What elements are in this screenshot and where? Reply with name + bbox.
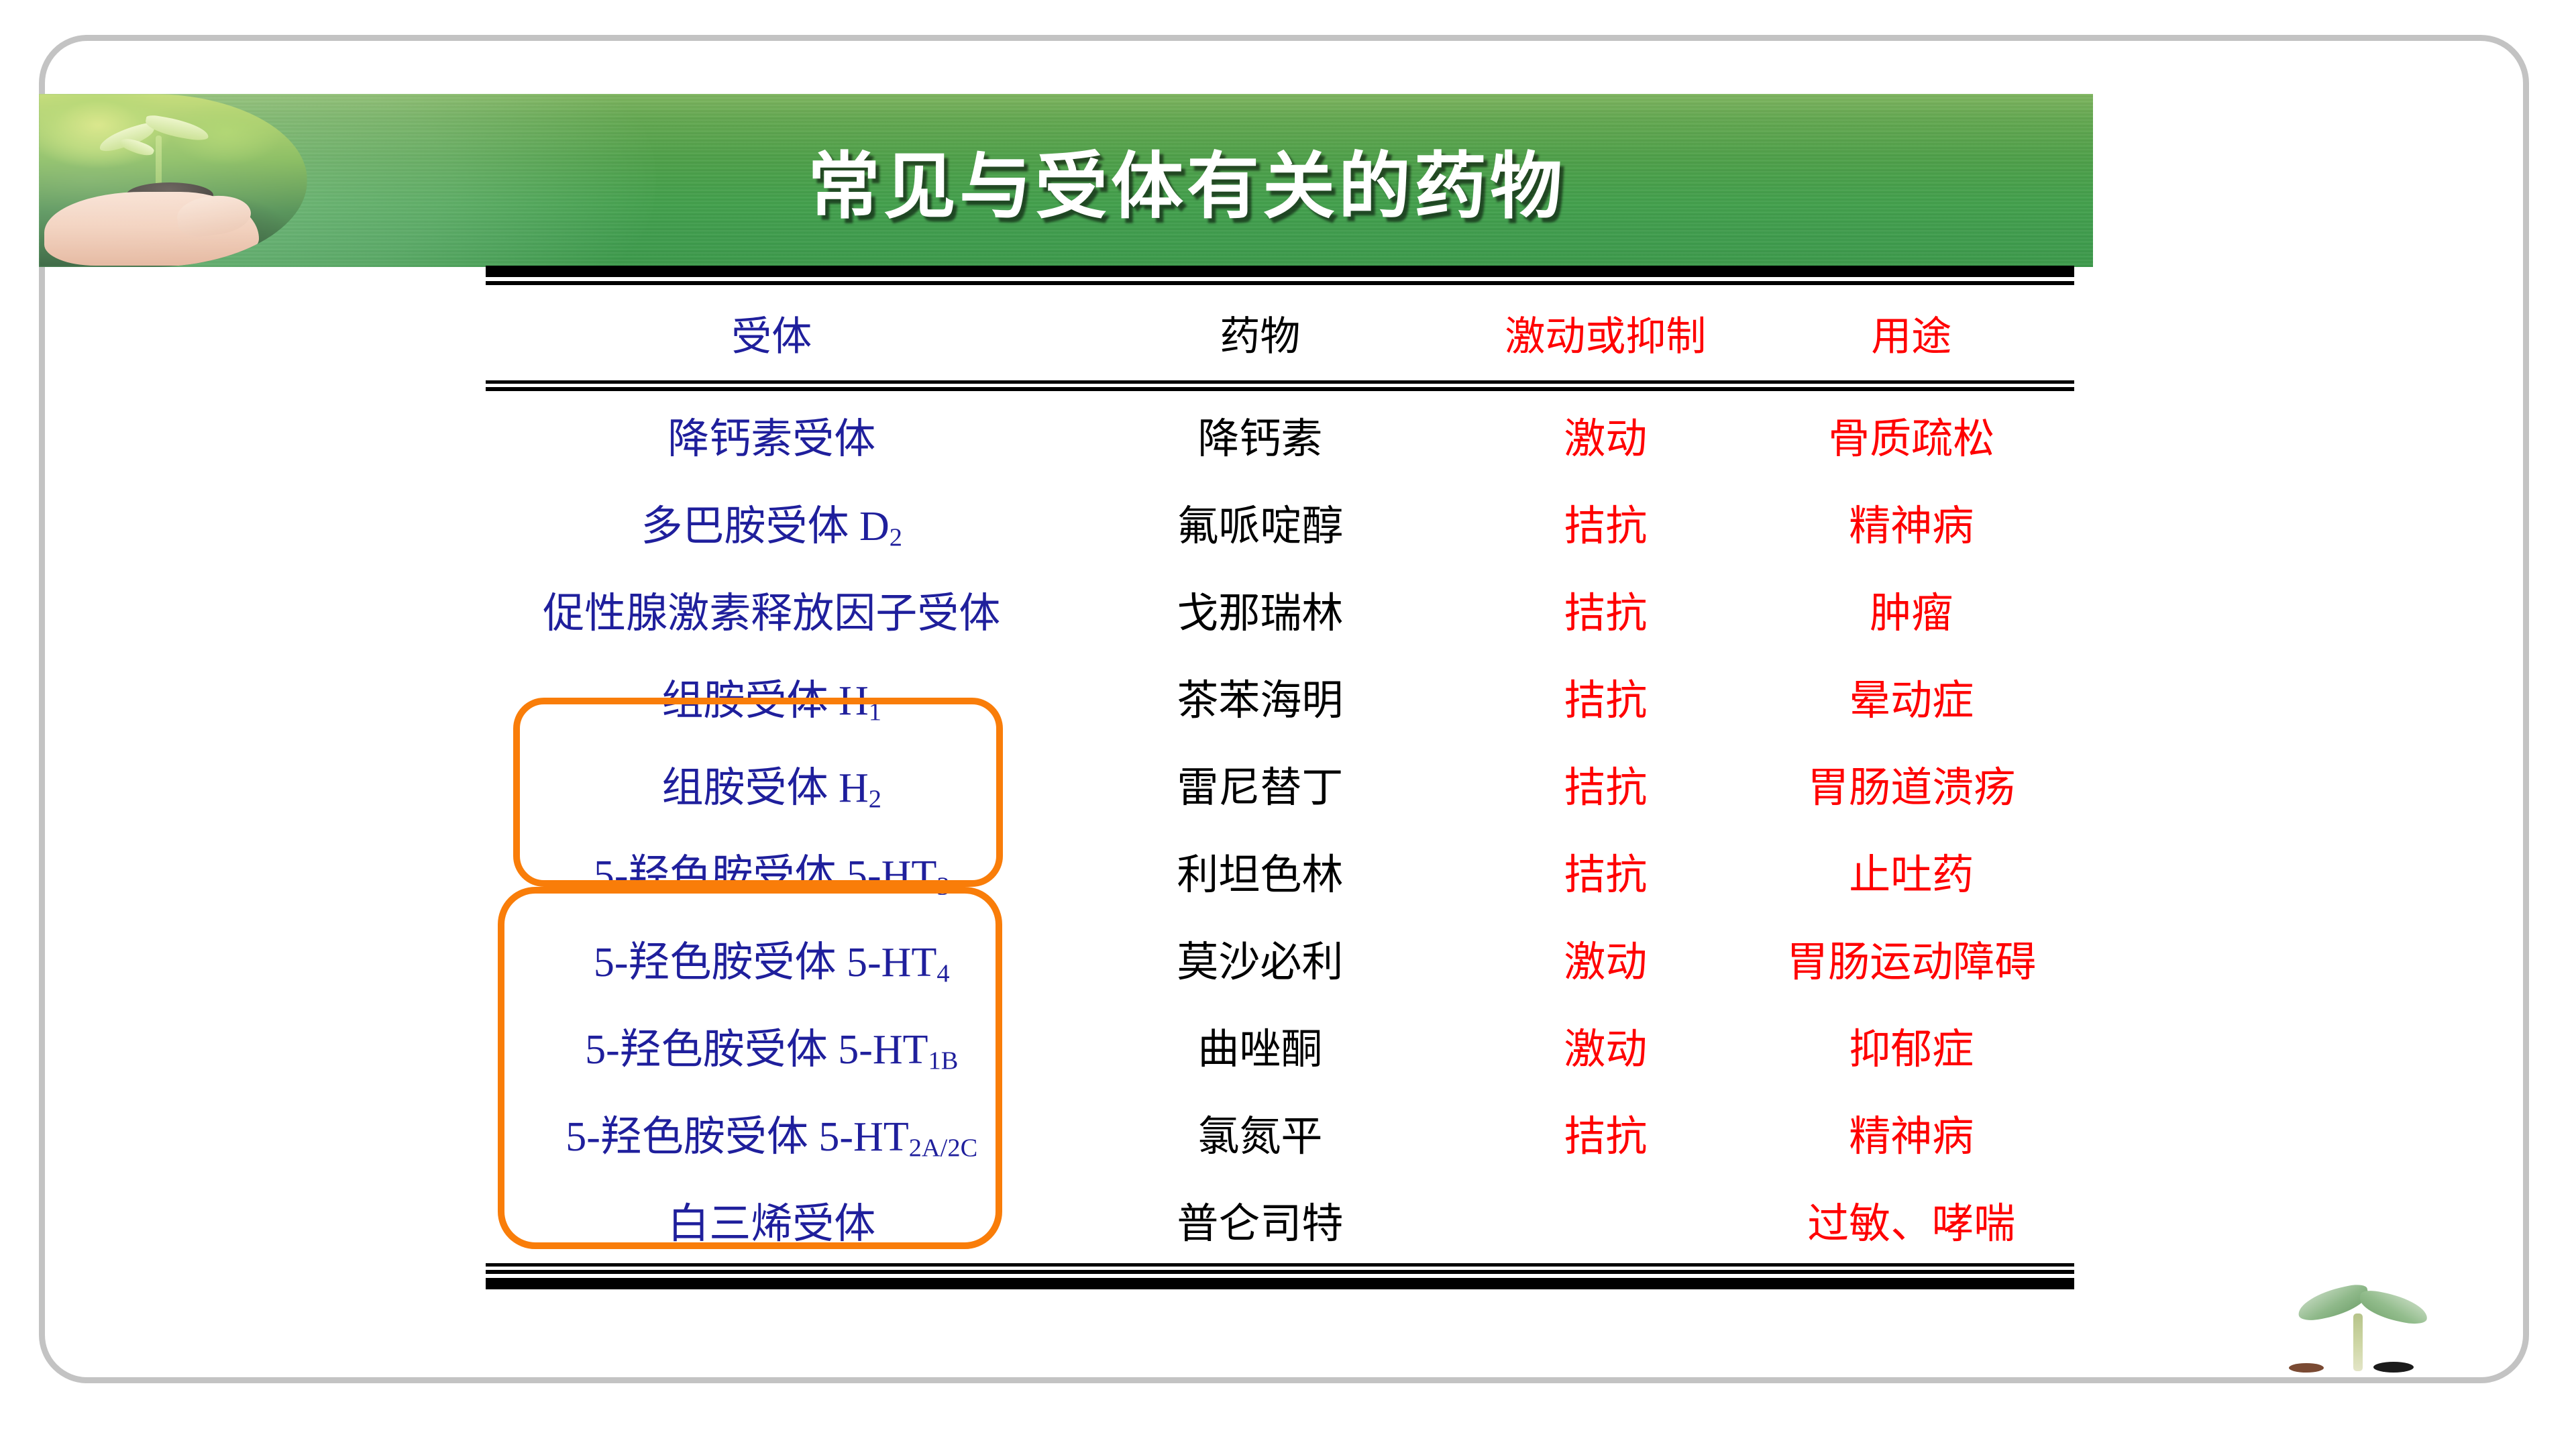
drug-receptor-table: 受体 药物 激动或抑制 用途 bbox=[486, 285, 2074, 380]
receptor-subscript: 1B bbox=[928, 1046, 959, 1075]
table-row: 组胺受体 H1茶苯海明拮抗晕动症 bbox=[486, 653, 2074, 740]
receptor-subscript: 2 bbox=[869, 785, 881, 813]
column-header-action: 激动或抑制 bbox=[1462, 285, 1748, 380]
cell-receptor: 多巴胺受体 D2 bbox=[486, 478, 1057, 566]
cell-action: 拮抗 bbox=[1462, 740, 1748, 827]
soil-icon bbox=[2373, 1362, 2414, 1373]
table-header-row: 受体 药物 激动或抑制 用途 bbox=[486, 285, 2074, 380]
receptor-subscript: 2A/2C bbox=[909, 1134, 977, 1162]
cell-drug: 利坦色林 bbox=[1057, 827, 1462, 914]
cell-action: 拮抗 bbox=[1462, 653, 1748, 740]
cell-drug: 降钙素 bbox=[1057, 391, 1462, 478]
receptor-name: 5-羟色胺受体 5-HT bbox=[585, 1027, 928, 1073]
cell-receptor: 5-羟色胺受体 5-HT3 bbox=[486, 827, 1057, 914]
receptor-name: 5-羟色胺受体 5-HT bbox=[594, 853, 936, 898]
cell-use: 肿瘤 bbox=[1749, 566, 2074, 653]
cell-receptor: 组胺受体 H1 bbox=[486, 653, 1057, 740]
cell-use: 过敏、哮喘 bbox=[1749, 1176, 2074, 1263]
cell-action bbox=[1462, 1176, 1748, 1263]
cell-drug: 雷尼替丁 bbox=[1057, 740, 1462, 827]
cell-receptor: 降钙素受体 bbox=[486, 391, 1057, 478]
cell-drug: 曲唑酮 bbox=[1057, 1002, 1462, 1089]
leaf-icon bbox=[2357, 1288, 2430, 1326]
receptor-subscript: 1 bbox=[869, 698, 881, 726]
stem-icon bbox=[156, 136, 162, 189]
table-row: 5-羟色胺受体 5-HT4莫沙必利激动胃肠运动障碍 bbox=[486, 914, 2074, 1002]
cell-action: 激动 bbox=[1462, 1002, 1748, 1089]
table-bottom-double-rule bbox=[486, 1263, 2074, 1274]
cell-drug: 氟哌啶醇 bbox=[1057, 478, 1462, 566]
title-banner: 常见与受体有关的药物 bbox=[39, 94, 2093, 267]
table-row: 5-羟色胺受体 5-HT1B曲唑酮激动抑郁症 bbox=[486, 1002, 2074, 1089]
receptor-name: 多巴胺受体 D bbox=[641, 504, 889, 549]
receptor-name: 组胺受体 H bbox=[661, 678, 868, 724]
soil-icon bbox=[2289, 1363, 2324, 1373]
table-header-double-rule bbox=[486, 380, 2074, 391]
cell-action: 拮抗 bbox=[1462, 1089, 1748, 1176]
stem-icon bbox=[2353, 1313, 2363, 1371]
table-top-thick-rule bbox=[486, 266, 2074, 277]
cell-use: 抑郁症 bbox=[1749, 1002, 2074, 1089]
column-header-receptor: 受体 bbox=[486, 285, 1057, 380]
receptor-name: 促性腺激素释放因子受体 bbox=[543, 591, 1000, 637]
cell-action: 拮抗 bbox=[1462, 478, 1748, 566]
receptor-name: 5-羟色胺受体 5-HT bbox=[594, 940, 936, 985]
cell-drug: 氯氮平 bbox=[1057, 1089, 1462, 1176]
column-header-drug: 药物 bbox=[1057, 285, 1462, 380]
corner-seedling-photo bbox=[2289, 1256, 2490, 1383]
cell-receptor: 组胺受体 H2 bbox=[486, 740, 1057, 827]
cell-use: 胃肠道溃疡 bbox=[1749, 740, 2074, 827]
table-row: 降钙素受体降钙素激动骨质疏松 bbox=[486, 391, 2074, 478]
cell-receptor: 5-羟色胺受体 5-HT2A/2C bbox=[486, 1089, 1057, 1176]
cell-use: 胃肠运动障碍 bbox=[1749, 914, 2074, 1002]
cell-use: 精神病 bbox=[1749, 478, 2074, 566]
table-row: 组胺受体 H2雷尼替丁拮抗胃肠道溃疡 bbox=[486, 740, 2074, 827]
receptor-subscript: 2 bbox=[890, 523, 902, 551]
cell-action: 拮抗 bbox=[1462, 827, 1748, 914]
cell-receptor: 促性腺激素释放因子受体 bbox=[486, 566, 1057, 653]
table-row: 5-羟色胺受体 5-HT2A/2C氯氮平拮抗精神病 bbox=[486, 1089, 2074, 1176]
cell-action: 激动 bbox=[1462, 391, 1748, 478]
table-row: 白三烯受体普仑司特过敏、哮喘 bbox=[486, 1176, 2074, 1263]
cell-drug: 莫沙必利 bbox=[1057, 914, 1462, 1002]
cell-receptor: 白三烯受体 bbox=[486, 1176, 1057, 1263]
cell-receptor: 5-羟色胺受体 5-HT1B bbox=[486, 1002, 1057, 1089]
table-bottom-thick-rule bbox=[486, 1278, 2074, 1289]
cell-use: 晕动症 bbox=[1749, 653, 2074, 740]
cell-use: 止吐药 bbox=[1749, 827, 2074, 914]
receptor-name: 降钙素受体 bbox=[667, 417, 875, 462]
table-body: 降钙素受体降钙素激动骨质疏松多巴胺受体 D2氟哌啶醇拮抗精神病促性腺激素释放因子… bbox=[486, 391, 2074, 1263]
column-header-use: 用途 bbox=[1749, 285, 2074, 380]
table-row: 多巴胺受体 D2氟哌啶醇拮抗精神病 bbox=[486, 478, 2074, 566]
table-header: 受体 药物 激动或抑制 用途 bbox=[486, 285, 2074, 380]
table-row: 5-羟色胺受体 5-HT3利坦色林拮抗止吐药 bbox=[486, 827, 2074, 914]
receptor-name: 5-羟色胺受体 5-HT bbox=[566, 1114, 908, 1160]
cell-receptor: 5-羟色胺受体 5-HT4 bbox=[486, 914, 1057, 1002]
cell-drug: 普仑司特 bbox=[1057, 1176, 1462, 1263]
drug-receptor-table-body: 降钙素受体降钙素激动骨质疏松多巴胺受体 D2氟哌啶醇拮抗精神病促性腺激素释放因子… bbox=[486, 391, 2074, 1263]
page-title: 常见与受体有关的药物 bbox=[307, 94, 2093, 267]
cell-action: 激动 bbox=[1462, 914, 1748, 1002]
cell-drug: 戈那瑞林 bbox=[1057, 566, 1462, 653]
receptor-name: 组胺受体 H bbox=[661, 765, 868, 811]
receptor-subscript: 3 bbox=[936, 872, 949, 900]
receptor-subscript: 4 bbox=[936, 959, 949, 987]
table-row: 促性腺激素释放因子受体戈那瑞林拮抗肿瘤 bbox=[486, 566, 2074, 653]
drug-receptor-table-wrap: 受体 药物 激动或抑制 用途 降钙素受体降钙素激动骨质疏松多巴胺受体 D2氟哌啶… bbox=[486, 266, 2074, 1289]
cell-action: 拮抗 bbox=[1462, 566, 1748, 653]
banner-seedling-photo bbox=[39, 94, 307, 267]
cell-use: 精神病 bbox=[1749, 1089, 2074, 1176]
cell-use: 骨质疏松 bbox=[1749, 391, 2074, 478]
receptor-name: 白三烯受体 bbox=[667, 1201, 875, 1247]
cell-drug: 茶苯海明 bbox=[1057, 653, 1462, 740]
